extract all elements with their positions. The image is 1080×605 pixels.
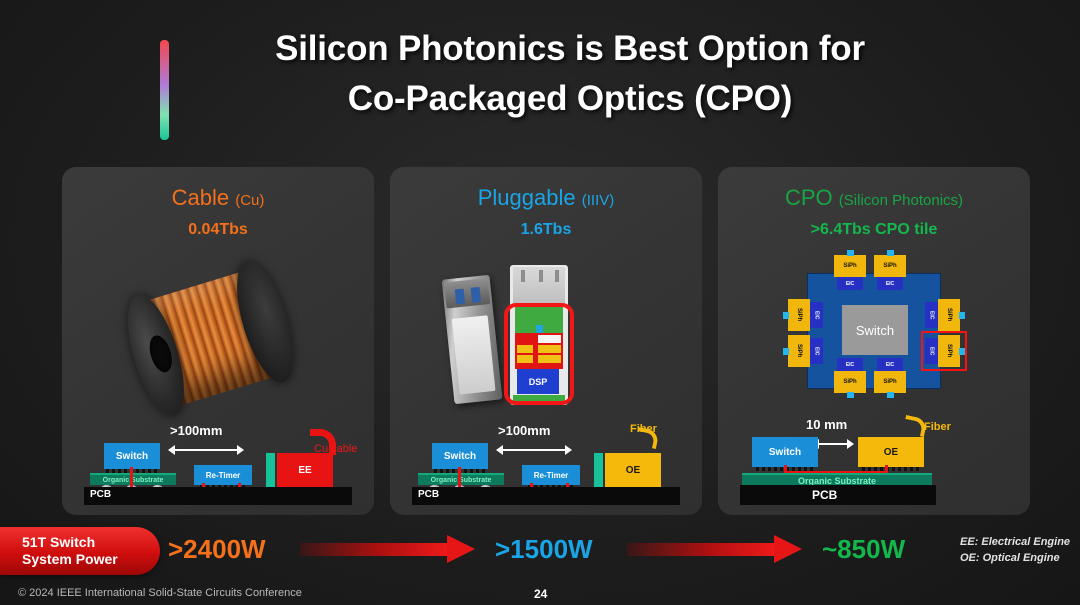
- pluggable-dimension-label: >100mm: [498, 423, 550, 438]
- pluggable-pcb-label: PCB: [418, 489, 439, 500]
- transceiver-pin: [555, 270, 559, 282]
- pluggable-oe-block: OE: [605, 453, 661, 487]
- panel-cable[interactable]: Cable (Cu) 0.04Tbs >100mm Switch Organic…: [62, 167, 374, 515]
- cpo-switch-die: Switch: [842, 305, 908, 355]
- pluggable-cross-section: >100mm Switch Organic Substrate Re-Timer…: [390, 407, 702, 507]
- cpo-fiber-label: Fiber: [924, 421, 951, 433]
- cpo-fiber-tab: [887, 392, 894, 398]
- cpo-fiber-tab: [847, 392, 854, 398]
- power-value-cpo: ~850W: [822, 534, 905, 565]
- legend-line-ee: EE: Electrical Engine: [960, 534, 1070, 550]
- panel-cpo-title: CPO (Silicon Photonics): [718, 185, 1030, 211]
- pluggable-switch-block: Switch: [432, 443, 488, 469]
- panel-pluggable-rate: 1.6Tbs: [390, 221, 702, 239]
- transceiver-label-sticker: [452, 315, 496, 394]
- cable-pcb: PCB: [84, 487, 352, 505]
- pluggable-fiber-label: Fiber: [630, 423, 657, 435]
- cpo-module-top-1: SiPh EIC: [834, 255, 866, 290]
- transceiver-pin: [539, 270, 543, 282]
- page-title-line-1: Silicon Photonics is Best Option for: [190, 24, 950, 74]
- cable-connector-bar: [266, 453, 275, 489]
- cable-switch-block: Switch: [104, 443, 160, 469]
- cable-retimer-block: Re-Timer: [194, 465, 252, 485]
- page-title: Silicon Photonics is Best Option for Co-…: [190, 24, 950, 123]
- slide-header: Silicon Photonics is Best Option for Co-…: [0, 18, 1080, 148]
- spool-hole: [146, 333, 176, 375]
- cpo-highlight-box: [921, 331, 967, 371]
- cpo-module-top-2: SiPh EIC: [874, 255, 906, 290]
- cpo-fiber-tab: [959, 312, 965, 319]
- transceiver-highlight-box: [504, 303, 574, 405]
- power-value-cable: >2400W: [168, 534, 266, 565]
- cu-cable-label: Cu cable: [314, 443, 357, 455]
- cable-cross-section: >100mm Switch Organic Substrate Re-Timer…: [62, 407, 374, 507]
- slide-canvas: Silicon Photonics is Best Option for Co-…: [0, 0, 1080, 605]
- panel-cpo[interactable]: CPO (Silicon Photonics) >6.4Tbs CPO tile…: [718, 167, 1030, 515]
- transceiver-port: [471, 287, 482, 303]
- system-power-line-2: System Power: [22, 551, 160, 568]
- cable-ee-block: EE: [277, 453, 333, 487]
- cpo-fiber-tab: [887, 250, 894, 256]
- pluggable-retimer-block: Re-Timer: [522, 465, 580, 485]
- cpo-module-bottom-1: EIC SiPh: [834, 358, 866, 393]
- cpo-switch-block: Switch: [752, 437, 818, 467]
- page-number: 24: [534, 587, 547, 601]
- power-arrow-1-icon: [300, 538, 475, 560]
- cpo-dimension-arrow: [818, 443, 848, 445]
- pluggable-dimension-arrow: [502, 449, 566, 451]
- abbreviation-legend: EE: Electrical Engine OE: Optical Engine: [960, 534, 1070, 566]
- cpo-module-left-2: SiPh EIC: [788, 335, 823, 367]
- cpo-fiber-tab: [783, 348, 789, 355]
- cpo-pcb-label: PCB: [812, 488, 837, 502]
- system-power-badge: 51T Switch System Power: [0, 527, 160, 575]
- legend-line-oe: OE: Optical Engine: [960, 550, 1070, 566]
- cpo-fiber-tab: [847, 250, 854, 256]
- accent-bar-icon: [160, 40, 169, 140]
- transceiver-optical-interface: [513, 267, 565, 305]
- cpo-pcb: PCB: [740, 485, 936, 505]
- cable-pcb-label: PCB: [90, 489, 111, 500]
- pluggable-connector-bar: [594, 453, 603, 489]
- pluggable-organic-substrate: Organic Substrate: [418, 473, 504, 485]
- transceiver-cap: [444, 278, 490, 308]
- pluggable-pcb: PCB: [412, 487, 680, 505]
- panel-pluggable[interactable]: Pluggable (IIIV) 1.6Tbs DS: [390, 167, 702, 515]
- cpo-tile-diagram: Switch SiPh EIC SiPh EIC EIC SiPh EIC Si…: [774, 255, 974, 407]
- cpo-module-right-1: EIC SiPh: [925, 299, 960, 331]
- cpo-cross-section: 10 mm Switch OE Fiber Organic Substrate …: [718, 407, 1030, 507]
- copper-spool-image: [113, 253, 314, 427]
- transceiver-port: [455, 289, 466, 305]
- power-arrow-2-icon: [627, 538, 802, 560]
- panel-cpo-rate: >6.4Tbs CPO tile: [718, 221, 1030, 239]
- footer-copyright: © 2024 IEEE International Solid-State Ci…: [18, 587, 302, 599]
- transceiver-pin: [521, 270, 525, 282]
- cpo-dimension-label: 10 mm: [806, 417, 847, 432]
- cpo-wire-3: [885, 465, 888, 473]
- panel-pluggable-title: Pluggable (IIIV): [390, 185, 702, 211]
- cpo-oe-block: OE: [858, 437, 924, 467]
- power-value-pluggable: >1500W: [495, 534, 593, 565]
- cable-organic-substrate: Organic Substrate: [90, 473, 176, 485]
- cable-dimension-arrow: [174, 449, 238, 451]
- cpo-fiber-tab: [783, 312, 789, 319]
- transceiver-photo: [442, 275, 503, 404]
- panel-cable-rate: 0.04Tbs: [62, 221, 374, 239]
- cable-dimension-label: >100mm: [170, 423, 222, 438]
- system-power-line-1: 51T Switch: [22, 534, 160, 551]
- panel-cable-title: Cable (Cu): [62, 185, 374, 211]
- cpo-module-bottom-2: EIC SiPh: [874, 358, 906, 393]
- cpo-module-left-1: SiPh EIC: [788, 299, 823, 331]
- page-title-line-2: Co-Packaged Optics (CPO): [190, 74, 950, 124]
